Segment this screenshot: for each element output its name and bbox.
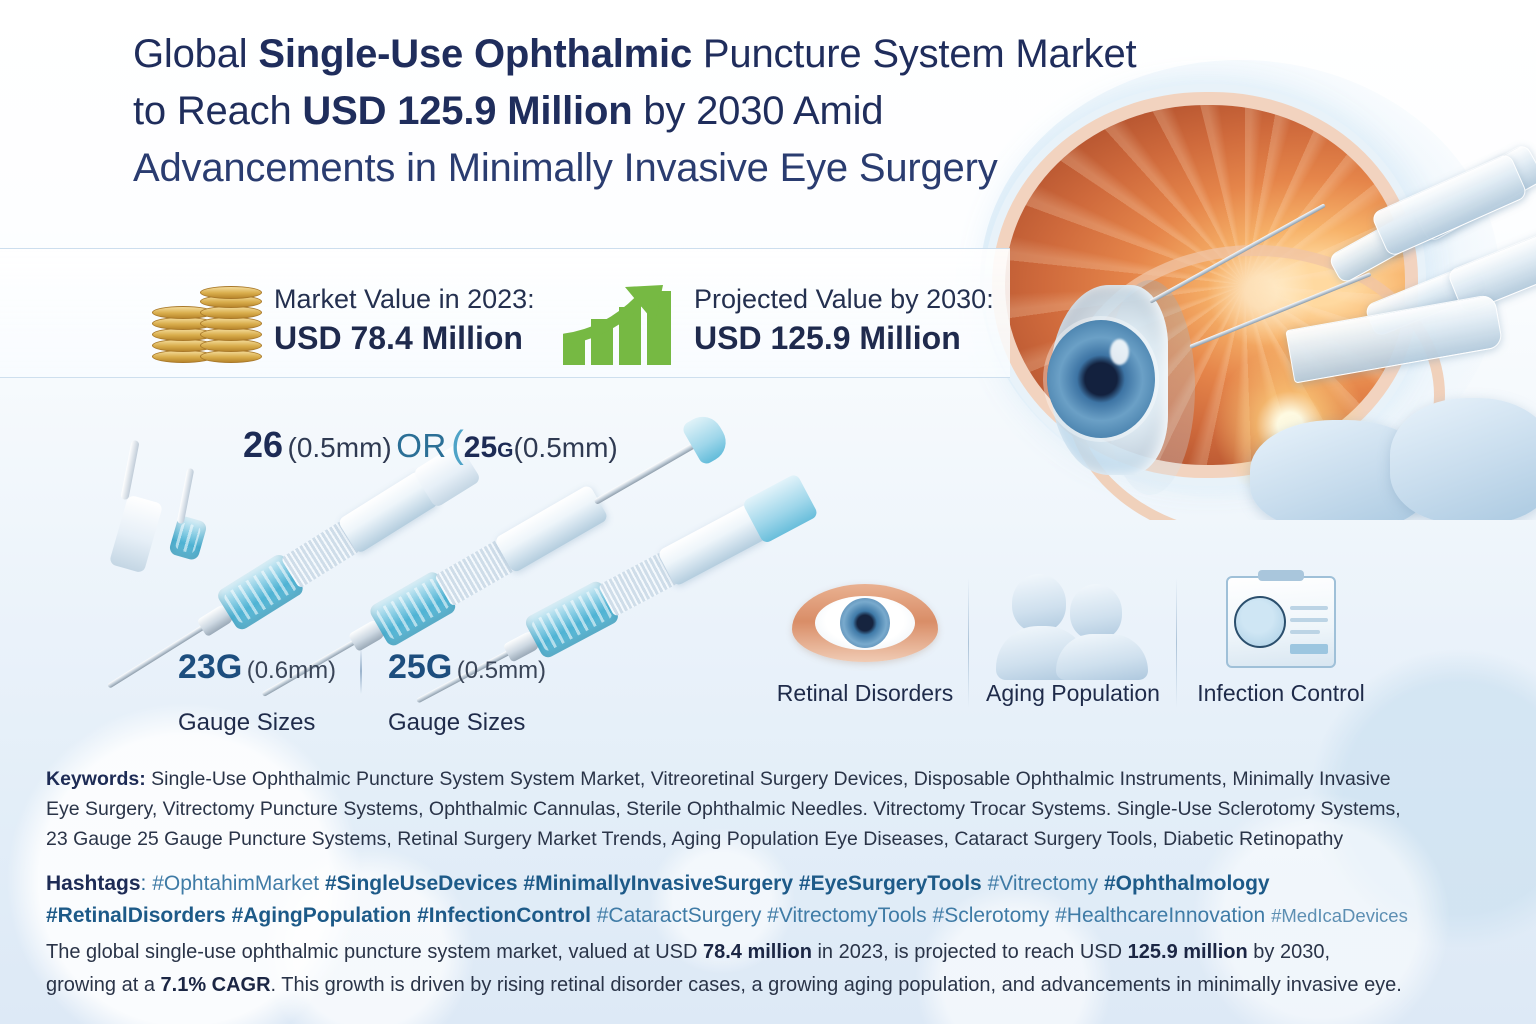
hashtag-item[interactable]: #VitrectomyTools — [767, 904, 927, 927]
hashtag-item[interactable]: #OphtahimMarket — [152, 872, 319, 895]
stat-value: USD 125.9 Million — [694, 318, 994, 358]
title-line-3: Advancements in Minimally Invasive Eye S… — [133, 140, 1283, 197]
summary-text: in 2023, is projected to reach USD — [812, 941, 1128, 963]
hashtag-item[interactable]: #MinimallyInvasiveSurgery — [523, 872, 793, 895]
stat-label: Projected Value by 2030: — [694, 283, 994, 316]
gauge-headline-paren: ( — [451, 424, 464, 466]
stat-value: USD 78.4 Million — [274, 318, 535, 358]
person-body-right — [1056, 634, 1148, 680]
gauge-size: 23G — [178, 648, 242, 686]
keywords-line-1: Single-Use Ophthalmic Puncture System Sy… — [146, 768, 1391, 790]
upward-arrow-icon — [563, 285, 671, 347]
eye-illustration-icon — [770, 560, 960, 680]
summary-text: growing at a — [46, 974, 161, 996]
title-emphasis: USD 125.9 Million — [302, 89, 632, 133]
gauge-caption: Gauge Sizes — [388, 709, 546, 737]
gauge-headline-number: 26 — [243, 424, 283, 465]
hashtag-item[interactable]: #Vitrectomy — [988, 872, 1099, 895]
title-text: to Reach — [133, 89, 302, 133]
hashtag-item[interactable]: #EyeSurgeryTools — [799, 872, 982, 895]
keywords-block: Keywords: Single-Use Ophthalmic Puncture… — [46, 764, 1486, 854]
gauge-divider — [360, 648, 362, 694]
coin-stack-icon — [152, 285, 262, 363]
driver-caption: Infection Control — [1186, 680, 1376, 707]
gauge-caption: Gauge Sizes — [178, 709, 336, 737]
clipboard-line — [1290, 606, 1328, 610]
elderly-couple-icon — [978, 560, 1168, 680]
coin-stack-right — [200, 285, 262, 363]
title-line-1: Global Single-Use Ophthalmic Puncture Sy… — [133, 26, 1283, 83]
summary-text: by 2030, — [1248, 941, 1330, 963]
driver-retinal-disorders: Retinal Disorders — [770, 560, 960, 707]
title-line-2: to Reach USD 125.9 Million by 2030 Amid — [133, 83, 1283, 140]
hashtag-item[interactable]: #AgingPopulation — [232, 904, 412, 927]
gauge-mm: (0.5mm) — [457, 657, 546, 684]
gauge-headline-alt-number: 25 — [464, 431, 497, 464]
summary-text: . This growth is driven by rising retina… — [271, 974, 1402, 996]
gauge-size: 25G — [388, 648, 452, 686]
gauge-headline-alt-g: G — [497, 439, 513, 462]
clipboard-petri-dish-icon — [1186, 560, 1376, 680]
title-text: Global — [133, 32, 258, 76]
summary-text: The global single-use ophthalmic punctur… — [46, 941, 703, 963]
iris-icon — [1047, 320, 1155, 438]
clipboard-line — [1290, 630, 1320, 634]
infographic-page: Global Single-Use Ophthalmic Puncture Sy… — [0, 0, 1536, 1024]
gauge-headline-or: OR — [396, 427, 447, 464]
gauge-mm: (0.6mm) — [247, 657, 336, 684]
clipboard-line — [1290, 618, 1328, 622]
clipboard-bar — [1290, 644, 1328, 654]
page-title: Global Single-Use Ophthalmic Puncture Sy… — [133, 26, 1283, 197]
keywords-label: Keywords: — [46, 768, 146, 790]
title-text: by 2030 Amid — [632, 89, 883, 133]
hashtag-item[interactable]: #Sclerotomy — [933, 904, 1050, 927]
title-text: Puncture System Market — [692, 32, 1136, 76]
driver-aging-population: Aging Population — [978, 560, 1168, 707]
hashtag-item[interactable]: #CataractSurgery — [597, 904, 762, 927]
stat-label: Market Value in 2023: — [274, 283, 535, 316]
hashtag-item[interactable]: #HealthcareInnovation — [1055, 904, 1265, 927]
driver-caption: Retinal Disorders — [770, 680, 960, 707]
keywords-line-3: 23 Gauge 25 Gauge Puncture Systems, Reti… — [46, 828, 1343, 850]
hashtags-colon: : — [141, 872, 153, 895]
cannula-cap-icon — [109, 494, 163, 573]
market-driver-icons: Retinal Disorders Aging Population — [770, 560, 1390, 735]
gauge-label-25g: 25G (0.5mm) Gauge Sizes — [388, 648, 546, 737]
hashtag-item[interactable]: #Ophthalmology — [1104, 872, 1270, 895]
hashtags-block: Hashtags: #OphtahimMarket #SingleUseDevi… — [46, 868, 1486, 932]
small-blue-hub-icon — [168, 515, 208, 562]
driver-caption: Aging Population — [978, 680, 1168, 707]
hashtags-label: Hashtags — [46, 872, 141, 895]
driver-separator — [1176, 578, 1177, 708]
stat-market-value-2023: Market Value in 2023: USD 78.4 Million — [274, 283, 535, 358]
gauge-headline-alt-mm: (0.5mm) — [514, 432, 618, 463]
stat-projected-value-2030: Projected Value by 2030: USD 125.9 Milli… — [694, 283, 994, 358]
cannula-wire-icon — [120, 440, 139, 500]
hashtag-item[interactable]: #RetinalDisorders — [46, 904, 226, 927]
petri-dish-icon — [1234, 596, 1286, 648]
hashtag-item[interactable]: #SingleUseDevices — [325, 872, 518, 895]
driver-separator — [968, 578, 969, 708]
surgeon-glove-icon — [1390, 398, 1536, 520]
summary-cagr: 7.1% CAGR — [161, 974, 271, 996]
person-head-right — [1070, 584, 1122, 640]
clipboard-clamp-icon — [1258, 570, 1304, 581]
keywords-line-2: Eye Surgery, Vitrectomy Puncture Systems… — [46, 798, 1401, 820]
gauge-headline-mm: (0.5mm) — [288, 432, 392, 463]
person-head-left — [1012, 574, 1066, 632]
gauge-headline: 26 (0.5mm) OR (25G(0.5mm) — [243, 424, 618, 467]
gauge-label-23g: 23G (0.6mm) Gauge Sizes — [178, 648, 336, 737]
hashtag-item[interactable]: #MedIcaDevices — [1271, 905, 1408, 926]
summary-value-2030: 125.9 million — [1128, 941, 1248, 963]
driver-infection-control: Infection Control — [1186, 560, 1376, 707]
summary-value-2023: 78.4 million — [703, 941, 812, 963]
summary-paragraph: The global single-use ophthalmic punctur… — [46, 936, 1486, 1002]
eye-iris — [840, 598, 890, 648]
title-emphasis: Single-Use Ophthalmic — [258, 32, 692, 76]
hashtag-item[interactable]: #InfectionControl — [417, 904, 591, 927]
growth-chart-icon — [563, 281, 675, 365]
